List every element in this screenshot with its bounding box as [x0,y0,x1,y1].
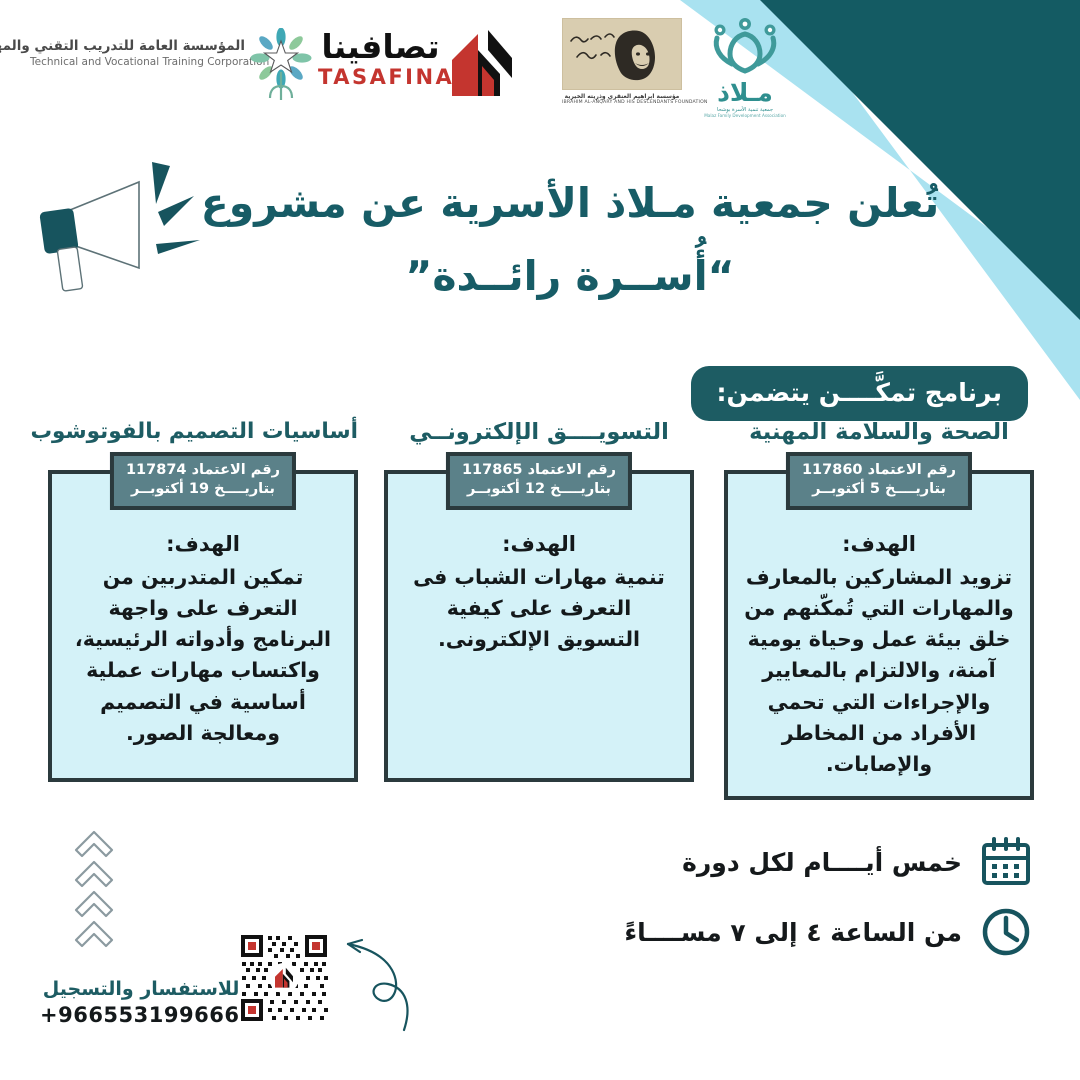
contact-phone[interactable]: +966553199666 [40,1003,239,1027]
malaz-arabic-name: مـلاذ [700,80,790,105]
tasafina-arabic-name: تصافينا [318,30,443,63]
accreditation-number: رقم الاعتماد 117874 [126,461,280,480]
info-row-duration: خمس أيــــام لكل دورة [682,836,1032,888]
course-card[interactable]: أساسيات التصميم بالفوتوشوب رقم الاعتماد … [48,420,358,782]
malaz-sub-english: Malaz Family Development Association [700,113,790,118]
accreditation-badge: رقم الاعتماد 117865 بتاريــــخ 12 أكتوبـ… [446,452,632,510]
course-cards: الصحة والسلامة المهنية رقم الاعتماد 1178… [0,420,1080,820]
foundation-english-name: IBRAHIM AL-ANQARY AND HIS DESCENDANTS FO… [562,100,682,105]
logo-foundation: مؤسسة ابراهيم العنقري وذريته الخيرية IBR… [562,18,682,105]
foundation-arabic-name: مؤسسة ابراهيم العنقري وذريته الخيرية [564,93,679,100]
accreditation-badge: رقم الاعتماد 117860 بتاريــــخ 5 أكتوبــ… [786,452,972,510]
tvtc-arabic-name: المؤسسة العامة للتدريب التقني والمهني [30,38,245,54]
duration-text: خمس أيــــام لكل دورة [682,848,962,877]
contact-label: للاستفسار والتسجيل [40,978,239,1000]
accreditation-date: بتاريــــخ 5 أكتوبــر [802,480,956,499]
headline-line-1: تُعلن جمعية مـلاذ الأسرية عن مشروع [155,176,985,231]
time-text: من الساعة ٤ إلى ٧ مســــاءً [624,918,962,947]
malaz-figures-icon [700,14,790,76]
chevrons-up-icon [62,826,154,948]
poster-canvas: المؤسسة العامة للتدريب التقني والمهني Te… [0,0,1080,1080]
logo-malaz: مـلاذ جمعية تنمية الأسرة بوشحا Malaz Fam… [700,14,790,118]
course-title: التسويــــق الإلكترونــي [384,420,694,450]
accreditation-date: بتاريــــخ 19 أكتوبــر [126,480,280,499]
goal-text: تنمية مهارات الشباب فى التعرف على كيفية … [404,562,674,655]
tasafina-mark-icon [448,26,516,102]
course-card[interactable]: التسويــــق الإلكترونــي رقم الاعتماد 11… [384,420,694,782]
logo-tasafina: تصافينا TASAFINA [318,30,443,89]
clock-icon [980,906,1032,958]
goal-label: الهدف: [404,532,674,556]
info-row-time: من الساعة ٤ إلى ٧ مســــاءً [624,906,1032,958]
tvtc-english-name: Technical and Vocational Training Corpor… [30,56,245,68]
course-card[interactable]: الصحة والسلامة المهنية رقم الاعتماد 1178… [724,420,1034,800]
course-body: رقم الاعتماد 117874 بتاريــــخ 19 أكتوبـ… [48,470,358,782]
foundation-portrait-icon [562,18,682,90]
course-title: أساسيات التصميم بالفوتوشوب [48,420,358,450]
headline-block: تُعلن جمعية مـلاذ الأسرية عن مشروع “أُسـ… [155,176,985,305]
headline-line-2: “أُســرة رائــدة” [155,249,985,304]
course-body: رقم الاعتماد 117865 بتاريــــخ 12 أكتوبـ… [384,470,694,782]
tvtc-star-icon [250,28,312,102]
calendar-icon [980,836,1032,888]
accreditation-number: رقم الاعتماد 117865 [462,461,616,480]
qr-code-icon[interactable] [238,932,330,1024]
course-body: رقم الاعتماد 117860 بتاريــــخ 5 أكتوبــ… [724,470,1034,800]
goal-text: تزويد المشاركين بالمعارف والمهارات التي … [744,562,1014,780]
header-logos: المؤسسة العامة للتدريب التقني والمهني Te… [0,0,1080,130]
accreditation-date: بتاريــــخ 12 أكتوبــر [462,480,616,499]
course-title: الصحة والسلامة المهنية [724,420,1034,450]
accreditation-badge: رقم الاعتماد 117874 بتاريــــخ 19 أكتوبـ… [110,452,296,510]
goal-label: الهدف: [744,532,1014,556]
program-badge: برنامج تمكَّــــن يتضمن: [691,366,1028,421]
logo-tvtc: المؤسسة العامة للتدريب التقني والمهني Te… [30,38,245,68]
contact-block: للاستفسار والتسجيل +966553199666 [40,978,239,1027]
tasafina-english-name: TASAFINA [318,65,443,89]
accreditation-number: رقم الاعتماد 117860 [802,461,956,480]
goal-label: الهدف: [68,532,338,556]
goal-text: تمكين المتدربين من التعرف على واجهة البر… [68,562,338,749]
curved-arrow-icon [336,930,416,1035]
